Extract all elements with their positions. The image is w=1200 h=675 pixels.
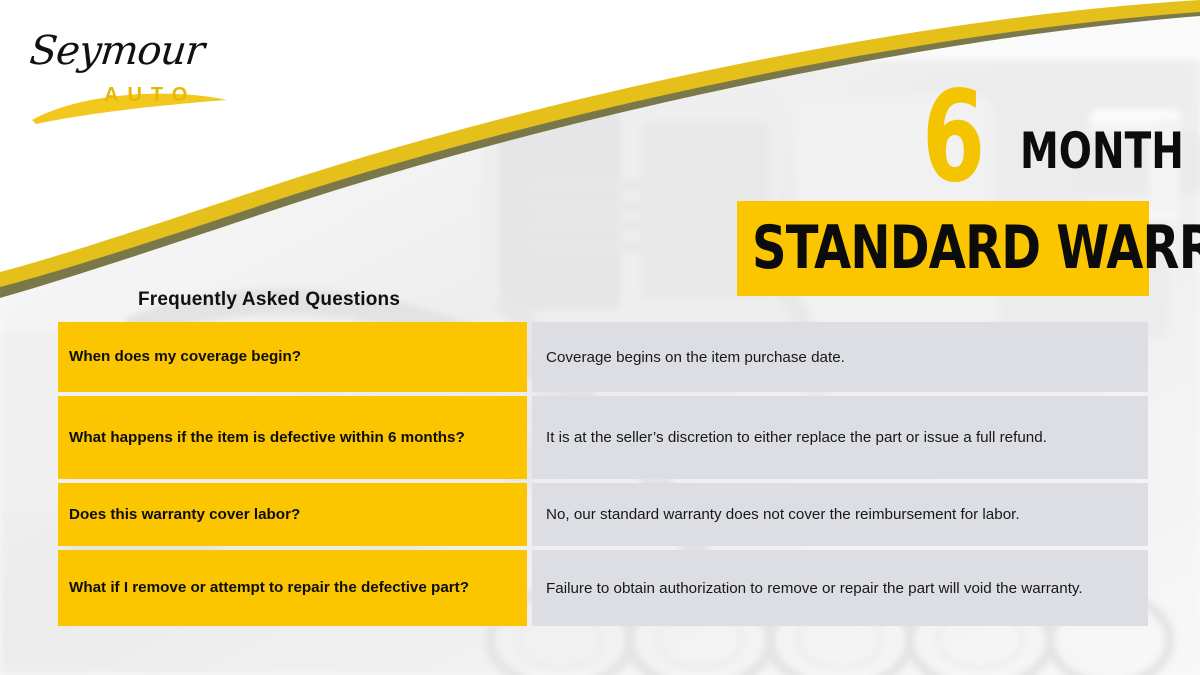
faq-answer-text: Coverage begins on the item purchase dat… [546,347,845,368]
faq-table: When does my coverage begin? Coverage be… [58,322,1148,626]
company-logo: Seymour AUTO [22,22,232,127]
faq-question-text: Does this warranty cover labor? [69,505,300,525]
faq-answer-cell: Failure to obtain authorization to remov… [532,550,1148,626]
faq-question-cell: What happens if the item is defective wi… [58,396,527,479]
faq-answer-text: It is at the seller’s discretion to eith… [546,427,1047,448]
faq-question-cell: When does my coverage begin? [58,322,527,392]
faq-question-text: What if I remove or attempt to repair th… [69,578,469,598]
faq-question-text: When does my coverage begin? [69,347,301,367]
faq-answer-cell: Coverage begins on the item purchase dat… [532,322,1148,392]
logo-wordmark: Seymour [28,28,206,74]
faq-question-cell: Does this warranty cover labor? [58,483,527,546]
standard-warranty-banner: STANDARD WARRANTY [737,201,1149,296]
standard-warranty-label: STANDARD WARRANTY [752,217,1200,279]
logo-subwordmark: AUTO [104,84,196,107]
faq-heading: Frequently Asked Questions [138,289,400,311]
table-row: What happens if the item is defective wi… [58,396,1148,479]
faq-question-cell: What if I remove or attempt to repair th… [58,550,527,626]
faq-question-text: What happens if the item is defective wi… [69,428,465,448]
faq-answer-cell: No, our standard warranty does not cover… [532,483,1148,546]
faq-answer-text: No, our standard warranty does not cover… [546,504,1020,525]
table-row: Does this warranty cover labor? No, our … [58,483,1148,546]
table-row: When does my coverage begin? Coverage be… [58,322,1148,392]
faq-answer-text: Failure to obtain authorization to remov… [546,578,1083,599]
duration-unit: MONTH [1020,126,1184,176]
duration-number: 6 [922,74,984,200]
faq-answer-cell: It is at the seller’s discretion to eith… [532,396,1148,479]
slide-canvas: Seymour AUTO 6 MONTH STANDARD WARRANTY F… [0,0,1200,675]
table-row: What if I remove or attempt to repair th… [58,550,1148,626]
